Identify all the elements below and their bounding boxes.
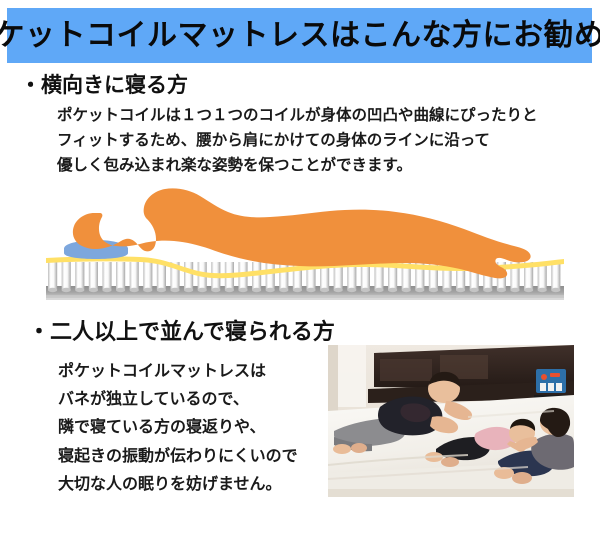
header-banner: ポケットコイルマットレスはこんな方にお勧め！ <box>7 8 592 63</box>
family-on-bed-photo <box>328 345 574 497</box>
page-title: ポケットコイルマットレスはこんな方にお勧め！ <box>0 21 600 51</box>
body-line: ポケットコイルは１つ１つのコイルが身体の凹凸や曲線にぴったりと <box>57 103 600 128</box>
section-heading-2: ・二人以上で並んで寝られる方 <box>28 318 600 346</box>
section-heading-1: ・横向きに寝る方 <box>20 72 600 98</box>
sleeper-silhouette <box>73 188 531 278</box>
section-side-sleeper: ・横向きに寝る方 ポケットコイルは１つ１つのコイルが身体の凹凸や曲線にぴったりと… <box>0 72 600 179</box>
body-line: フィットするため、腰から肩にかけての身体のラインに沿って <box>57 128 600 153</box>
section-body-1: ポケットコイルは１つ１つのコイルが身体の凹凸や曲線にぴったりと フィットするため… <box>57 103 600 178</box>
body-line: 優しく包み込まれ楽な姿勢を保つことができます。 <box>57 153 600 178</box>
side-sleeper-illustration: (function(){ var g = document.getElement… <box>22 186 578 312</box>
